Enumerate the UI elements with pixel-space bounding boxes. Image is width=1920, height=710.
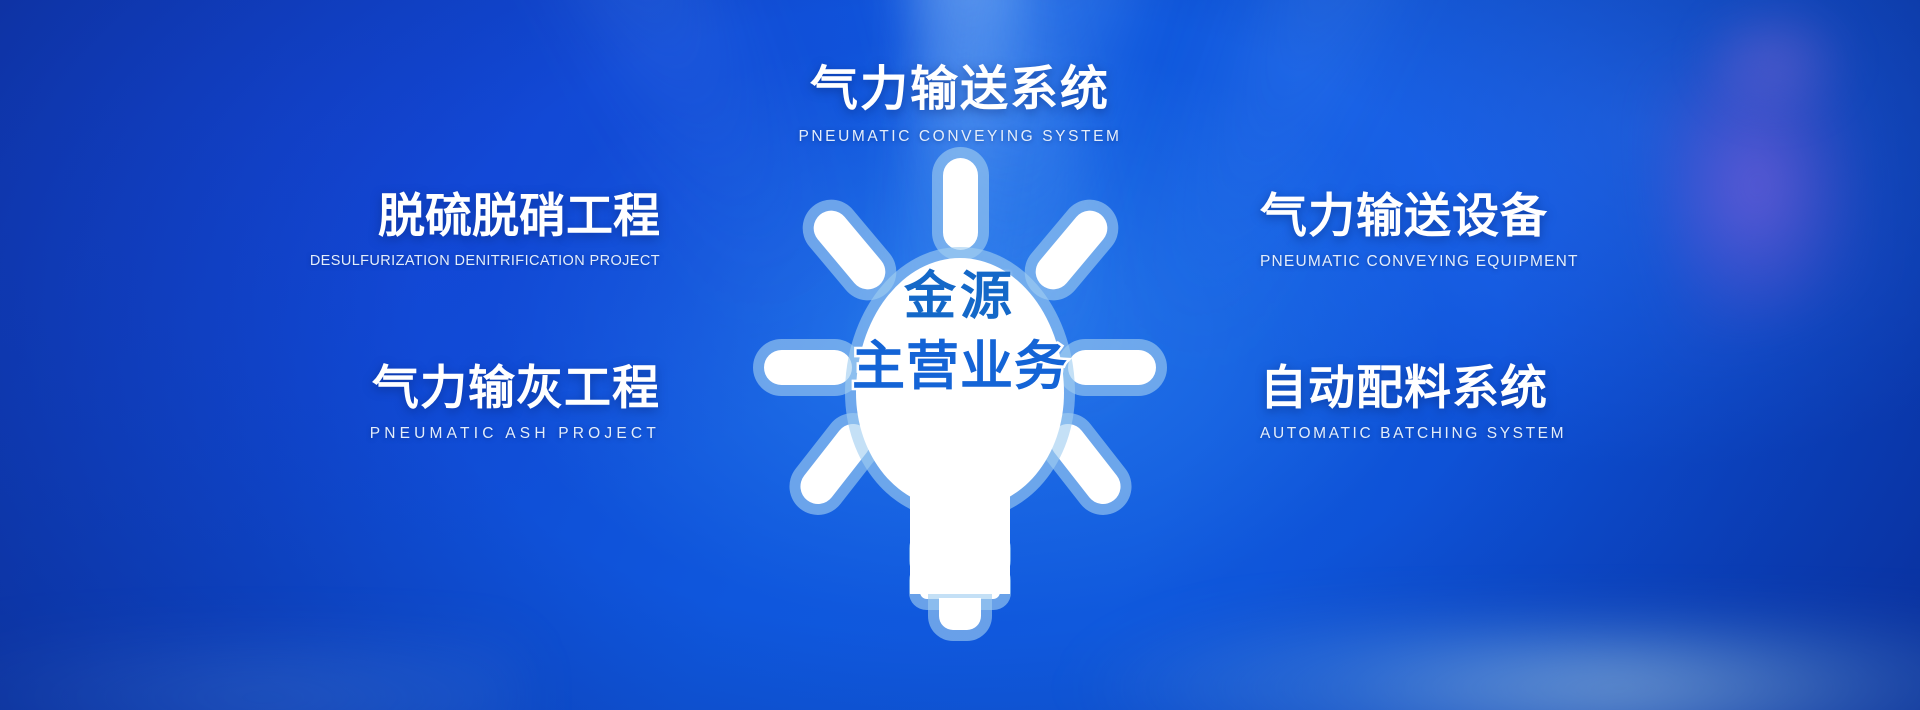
category-title-en: PNEUMATIC CONVEYING SYSTEM (0, 128, 1920, 146)
category-title-cn: 气力输灰工程 (0, 362, 660, 414)
category-desulfurization-denitrification-project[interactable]: 脱硫脱硝工程 DESULFURIZATION DENITRIFICATION P… (0, 190, 660, 269)
category-title-en: PNEUMATIC CONVEYING EQUIPMENT (1260, 253, 1920, 271)
category-pneumatic-conveying-system[interactable]: 气力输送系统 PNEUMATIC CONVEYING SYSTEM (0, 64, 1920, 146)
category-title-cn: 气力输送系统 (0, 64, 1920, 117)
category-title-en: AUTOMATIC BATCHING SYSTEM (1260, 425, 1920, 443)
bulb-ray-left (764, 350, 852, 385)
category-pneumatic-conveying-equipment[interactable]: 气力输送设备 PNEUMATIC CONVEYING EQUIPMENT (1260, 190, 1920, 271)
bulb-ray-right (1068, 350, 1156, 385)
category-title-en: PNEUMATIC ASH PROJECT (0, 425, 660, 443)
bulb-tip (939, 598, 981, 630)
category-title-cn: 脱硫脱硝工程 (0, 190, 660, 242)
category-title-cn: 自动配料系统 (1260, 362, 1920, 414)
bulb-ray-upper-left (807, 204, 893, 297)
category-automatic-batching-system[interactable]: 自动配料系统 AUTOMATIC BATCHING SYSTEM (1260, 362, 1920, 443)
bottom-cyan-glow (1080, 620, 1920, 710)
category-title-en: DESULFURIZATION DENITRIFICATION PROJECT (0, 253, 660, 269)
bottom-left-glow (0, 640, 520, 710)
hero-banner: 金源 主营业务 气力输送系统 PNEUMATIC CONVEYING SYSTE… (0, 0, 1920, 710)
bulb-ray-upper-right (1029, 204, 1115, 297)
purple-flare (1630, 8, 1885, 363)
category-title-cn: 气力输送设备 (1260, 190, 1920, 242)
category-pneumatic-ash-project[interactable]: 气力输灰工程 PNEUMATIC ASH PROJECT (0, 362, 660, 443)
bulb-ray-top (943, 158, 978, 250)
lightbulb-icon: 金源 主营业务 (770, 150, 1150, 620)
